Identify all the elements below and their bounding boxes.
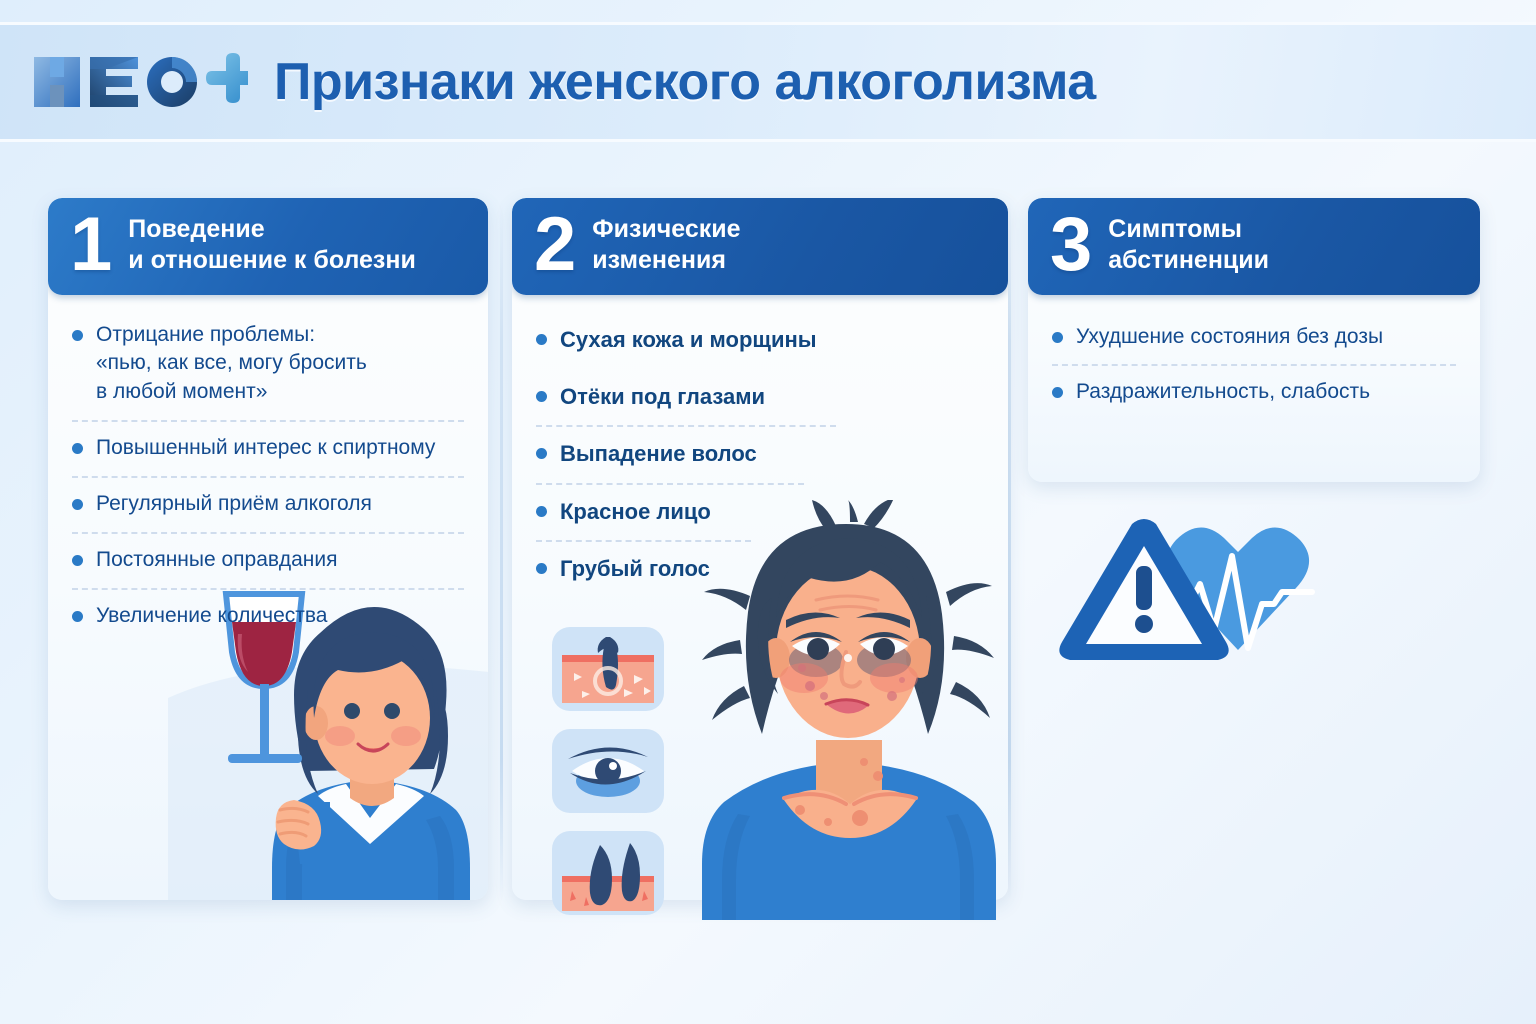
card-behavior[interactable]: 1 Поведение и отношение к болезни Отрица… <box>48 198 488 900</box>
card-title-line1: Физические <box>592 215 740 243</box>
heart-pulse-icon <box>1167 527 1312 650</box>
list-item[interactable]: Регулярный приём алкоголя <box>72 490 466 519</box>
list-item[interactable]: Сухая кожа и морщины <box>536 325 986 355</box>
bullet-text: Выпадение волос <box>560 439 757 469</box>
card-title-line2: абстиненции <box>1108 245 1269 276</box>
list-separator <box>72 476 464 478</box>
bullet-text: Грубый голос <box>560 554 710 584</box>
card-withdrawal-header: 3 Симптомы абстиненции <box>1028 198 1480 295</box>
bullet-dot-icon <box>1052 387 1063 398</box>
neo-plus-logo <box>30 51 248 113</box>
list-separator <box>72 532 464 534</box>
card-divider-2 <box>1008 200 1011 900</box>
bullet-dot-icon <box>536 334 547 345</box>
bullet-text: Отёки под глазами <box>560 382 765 412</box>
card-physical-header: 2 Физические изменения <box>512 198 1008 295</box>
list-separator <box>72 588 464 590</box>
bullet-text: Регулярный приём алкоголя <box>96 490 372 519</box>
page-title: Признаки женского алкоголизма <box>274 52 1096 112</box>
list-separator <box>536 425 836 427</box>
card-title-line1: Поведение <box>128 215 264 243</box>
card-withdrawal-bullets: Ухудшение состояния без дозы Раздражител… <box>1028 295 1480 418</box>
bullet-text: Отрицание проблемы: «пью, как все, могу … <box>96 321 367 408</box>
bullet-text: Увеличение количества <box>96 602 327 631</box>
card-number: 1 <box>70 214 112 276</box>
bullet-dot-icon <box>72 611 83 622</box>
card-divider-1 <box>500 200 503 900</box>
bullet-text: Раздражительность, слабость <box>1076 378 1370 407</box>
card-title-line2: изменения <box>592 245 740 276</box>
bullet-text: Ухудшение состояния без дозы <box>1076 323 1383 352</box>
list-item[interactable]: Увеличение количества <box>72 602 466 631</box>
list-item[interactable]: Выпадение волос <box>536 439 986 469</box>
warning-triangle-icon <box>1059 519 1228 660</box>
bullet-dot-icon <box>72 330 83 341</box>
card-behavior-header: 1 Поведение и отношение к болезни <box>48 198 488 295</box>
card-physical[interactable]: 2 Физические изменения Сухая кожа и морщ… <box>512 198 1008 900</box>
list-item[interactable]: Постоянные оправдания <box>72 546 466 575</box>
card-behavior-bullets: Отрицание проблемы: «пью, как все, могу … <box>48 295 488 642</box>
card-number: 3 <box>1050 214 1092 276</box>
bullet-dot-icon <box>1052 332 1063 343</box>
list-item[interactable]: Красное лицо <box>536 497 986 527</box>
list-separator <box>72 420 464 422</box>
bullet-dot-icon <box>536 448 547 459</box>
card-title: Симптомы абстиненции <box>1108 214 1269 277</box>
list-item[interactable]: Повышенный интерес к спиртному <box>72 434 466 463</box>
card-physical-bullets: Сухая кожа и морщины Отёки под глазами В… <box>512 295 1008 595</box>
list-separator <box>536 483 804 485</box>
bullet-dot-icon <box>536 391 547 402</box>
list-item[interactable]: Раздражительность, слабость <box>1052 378 1458 407</box>
warning-and-heartbeat-illustration <box>1048 512 1338 692</box>
neo-plus-logo-icon <box>30 51 248 113</box>
card-title-line2: и отношение к болезни <box>128 245 416 276</box>
list-item[interactable]: Отёки под глазами <box>536 382 986 412</box>
bullet-dot-icon <box>72 555 83 566</box>
list-separator <box>536 540 751 542</box>
list-separator <box>1052 364 1456 366</box>
bullet-text: Красное лицо <box>560 497 711 527</box>
card-title: Физические изменения <box>592 214 740 277</box>
list-item[interactable]: Грубый голос <box>536 554 986 584</box>
bullet-dot-icon <box>72 499 83 510</box>
bullet-dot-icon <box>536 563 547 574</box>
bullet-text: Сухая кожа и морщины <box>560 325 817 355</box>
bullet-text: Постоянные оправдания <box>96 546 337 575</box>
bullet-text: Повышенный интерес к спиртному <box>96 434 435 463</box>
list-item[interactable]: Ухудшение состояния без дозы <box>1052 323 1458 352</box>
header-band: Признаки женского алкоголизма <box>0 22 1536 142</box>
bullet-dot-icon <box>536 506 547 517</box>
card-title: Поведение и отношение к болезни <box>128 214 416 277</box>
card-title-line1: Симптомы <box>1108 215 1242 243</box>
card-withdrawal[interactable]: 3 Симптомы абстиненции Ухудшение состоян… <box>1028 198 1480 482</box>
card-number: 2 <box>534 214 576 276</box>
list-item[interactable]: Отрицание проблемы: «пью, как все, могу … <box>72 321 466 408</box>
bullet-dot-icon <box>72 443 83 454</box>
